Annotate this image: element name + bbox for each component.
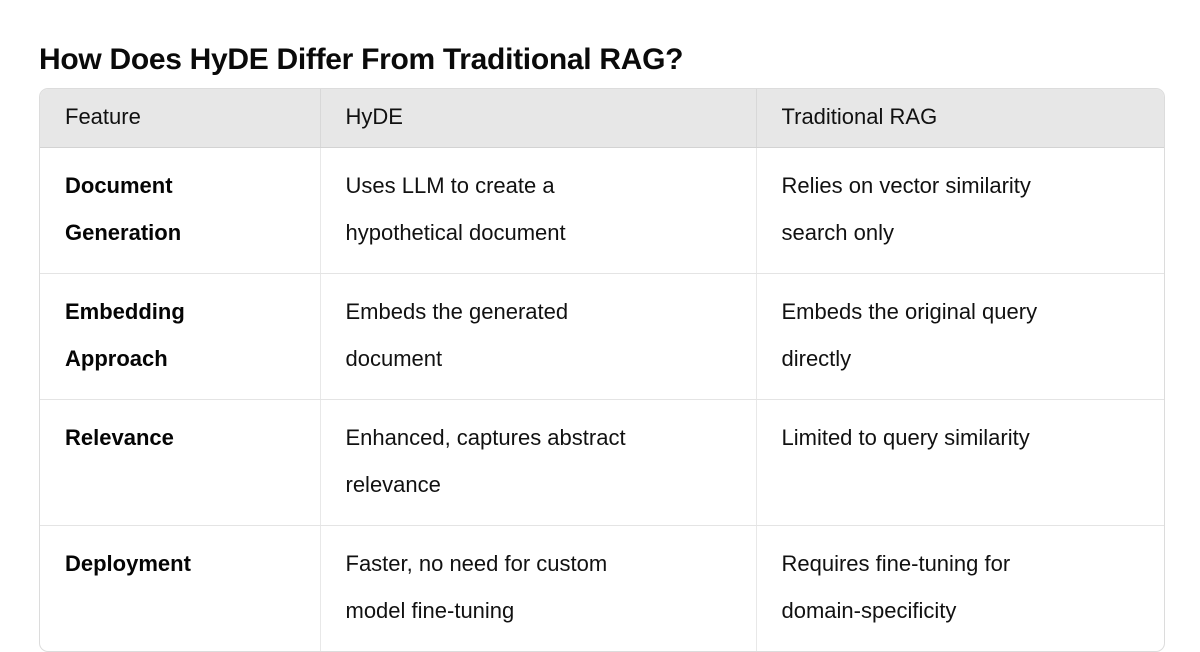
- cell-text-line: Uses LLM to create a: [346, 162, 731, 209]
- table-row: Relevance Enhanced, captures abstract re…: [40, 400, 1164, 526]
- cell-text-line: hypothetical document: [346, 209, 731, 256]
- cell-text-line: directly: [782, 335, 1140, 382]
- cell-feature: Embedding Approach: [40, 274, 320, 400]
- cell-feature: Relevance: [40, 400, 320, 526]
- cell-text-line: search only: [782, 209, 1140, 256]
- cell-text-line: Enhanced, captures abstract: [346, 414, 731, 461]
- table-header: Feature HyDE Traditional RAG: [40, 89, 1164, 148]
- cell-text-line: model fine-tuning: [346, 587, 731, 634]
- cell-traditional-rag: Embeds the original query directly: [756, 274, 1164, 400]
- cell-text-line: Embedding: [65, 288, 295, 335]
- table-header-row: Feature HyDE Traditional RAG: [40, 89, 1164, 148]
- cell-text-line: Relevance: [65, 414, 295, 461]
- cell-text-line: Generation: [65, 209, 295, 256]
- column-header-feature: Feature: [40, 89, 320, 148]
- cell-text-line: Relies on vector similarity: [782, 162, 1140, 209]
- cell-text-line: relevance: [346, 461, 731, 508]
- column-header-hyde: HyDE: [320, 89, 756, 148]
- table-row: Embedding Approach Embeds the generated …: [40, 274, 1164, 400]
- cell-text-line: Document: [65, 162, 295, 209]
- cell-text-line: document: [346, 335, 731, 382]
- cell-traditional-rag: Requires fine-tuning for domain-specific…: [756, 526, 1164, 652]
- page-title: How Does HyDE Differ From Traditional RA…: [39, 40, 683, 80]
- cell-feature: Deployment: [40, 526, 320, 652]
- table-row: Document Generation Uses LLM to create a…: [40, 148, 1164, 274]
- cell-feature: Document Generation: [40, 148, 320, 274]
- cell-traditional-rag: Relies on vector similarity search only: [756, 148, 1164, 274]
- cell-hyde: Enhanced, captures abstract relevance: [320, 400, 756, 526]
- comparison-table: Feature HyDE Traditional RAG Document Ge…: [40, 89, 1164, 651]
- cell-text-line: Requires fine-tuning for: [782, 540, 1140, 587]
- comparison-table-container: Feature HyDE Traditional RAG Document Ge…: [39, 88, 1165, 652]
- cell-text-line: domain-specificity: [782, 587, 1140, 634]
- cell-text-line: Approach: [65, 335, 295, 382]
- page-root: How Does HyDE Differ From Traditional RA…: [0, 0, 1200, 616]
- table-row: Deployment Faster, no need for custom mo…: [40, 526, 1164, 652]
- cell-text-line: Limited to query similarity: [782, 414, 1140, 461]
- cell-hyde: Embeds the generated document: [320, 274, 756, 400]
- cell-text-line: Embeds the generated: [346, 288, 731, 335]
- table-body: Document Generation Uses LLM to create a…: [40, 148, 1164, 652]
- cell-text-line: Embeds the original query: [782, 288, 1140, 335]
- cell-text-line: Faster, no need for custom: [346, 540, 731, 587]
- cell-traditional-rag: Limited to query similarity: [756, 400, 1164, 526]
- cell-hyde: Uses LLM to create a hypothetical docume…: [320, 148, 756, 274]
- column-header-traditional-rag: Traditional RAG: [756, 89, 1164, 148]
- cell-hyde: Faster, no need for custom model fine-tu…: [320, 526, 756, 652]
- cell-text-line: Deployment: [65, 540, 295, 587]
